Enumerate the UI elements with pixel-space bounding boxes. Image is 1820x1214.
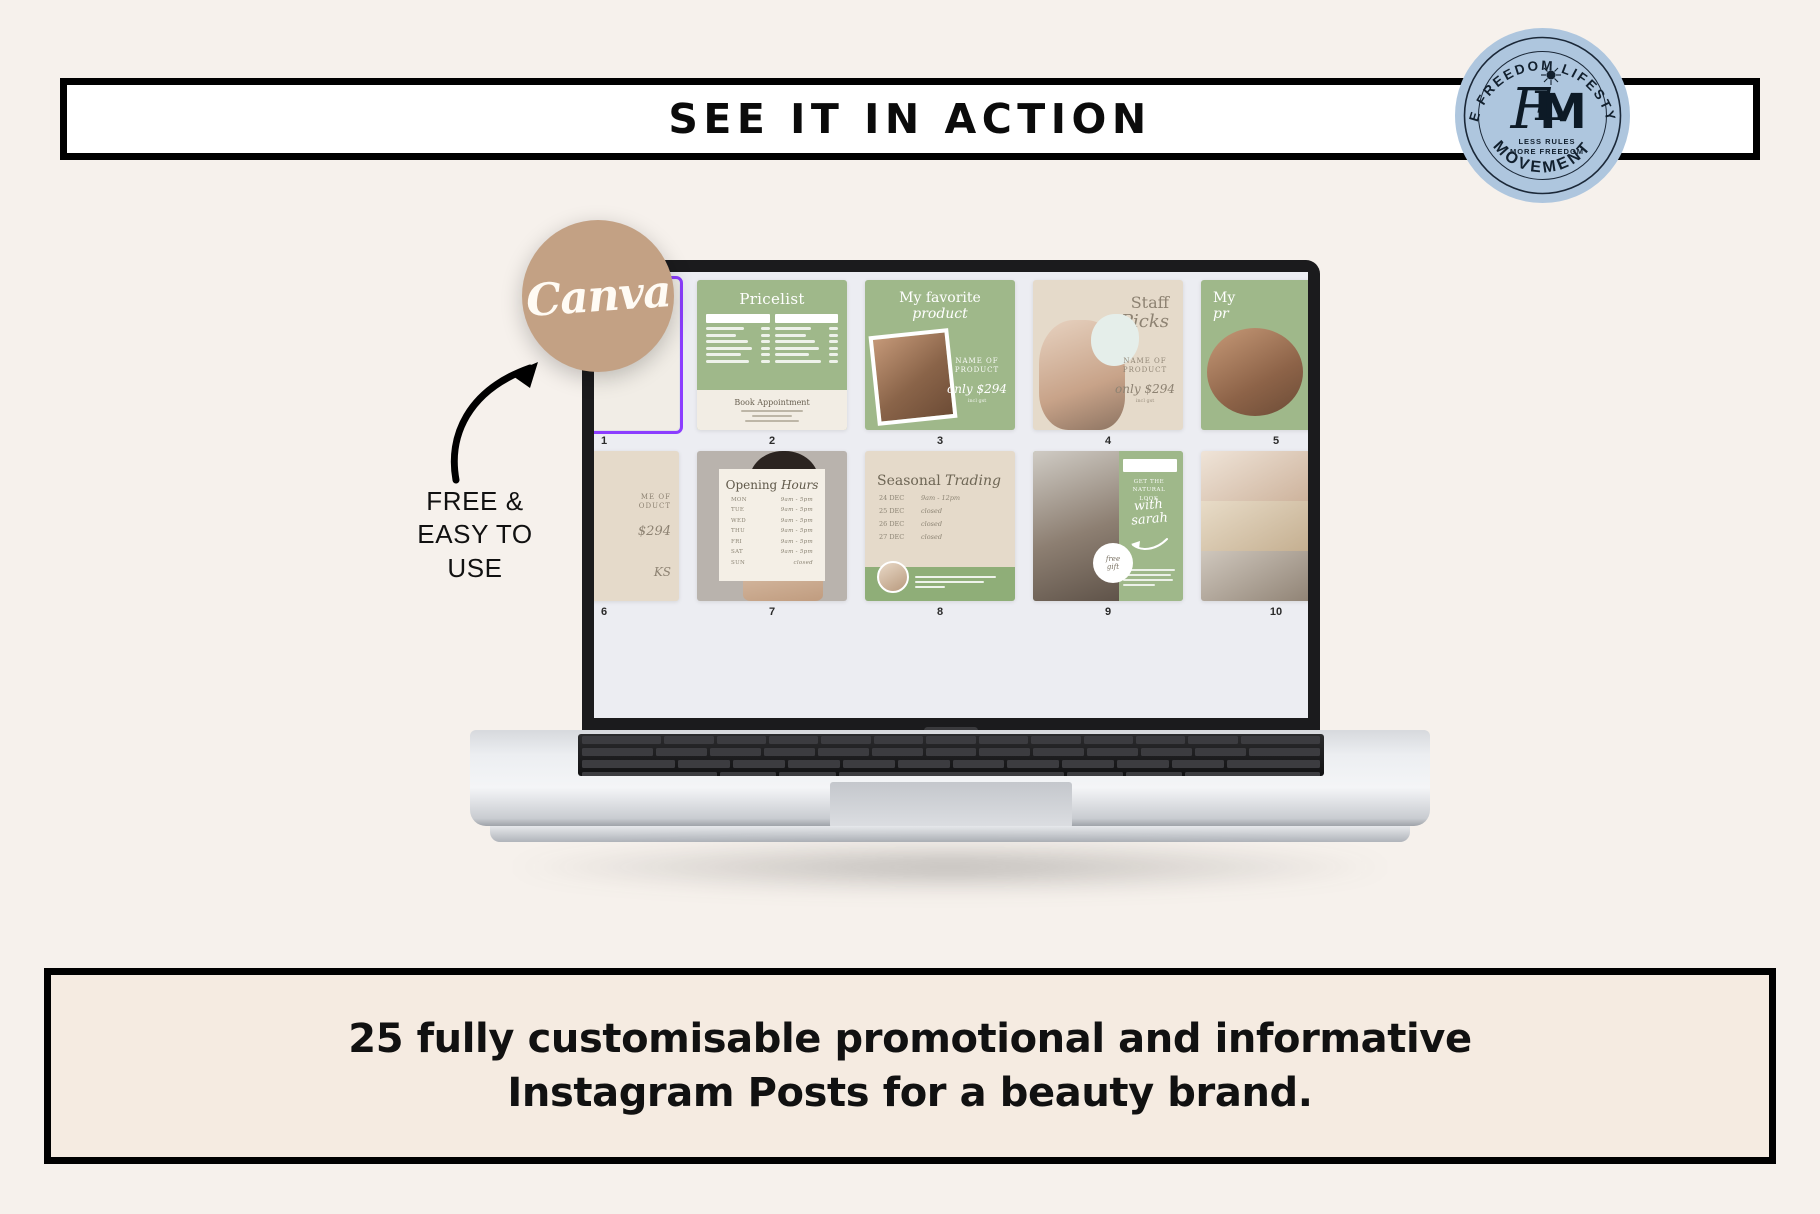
laptop-shadow — [500, 842, 1400, 892]
price-value: $294 — [1144, 382, 1175, 396]
product-label-1: ME OF — [641, 493, 671, 501]
canva-badge: Canva — [522, 220, 674, 372]
canva-card-photo-stack[interactable] — [1201, 451, 1308, 601]
laptop-lid: 1 Pricelist — [582, 260, 1320, 740]
page-number: 7 — [697, 606, 847, 618]
footer-title: Book Appointment — [734, 398, 809, 407]
canva-card-opening-hours[interactable]: Opening Hours MON9am - 5pm TUE9am - 5pm … — [697, 451, 847, 601]
curved-arrow-up-right-icon — [438, 348, 568, 488]
canva-card-seasonal-trading[interactable]: Seasonal Trading 24 DEC9am - 12pm 25 DEC… — [865, 451, 1015, 601]
curved-arrow-left-icon — [1129, 535, 1169, 553]
banner-line-2: Instagram Posts for a beauty brand. — [507, 1070, 1312, 1116]
card-title: My pr — [1201, 280, 1308, 322]
poster-canvas: SEE IT IN ACTION THE FREEDOM LIFESTYLE M… — [0, 0, 1820, 1214]
card-title: Seasonal Trading — [865, 451, 1015, 489]
canva-card-pricelist[interactable]: Pricelist — [697, 280, 847, 430]
page-number: 5 — [1201, 435, 1308, 447]
grid-cell: Opening Hours MON9am - 5pm TUE9am - 5pm … — [688, 451, 856, 618]
brand-logo-badge: THE FREEDOM LIFESTYLE MOVEMENT F M L LES… — [1455, 28, 1630, 203]
banner-line-1: 25 fully customisable promotional and in… — [348, 1016, 1471, 1062]
date-row: 27 DECclosed — [865, 533, 1015, 541]
hours-row: SUNclosed — [719, 560, 825, 566]
title-line-2: Hours — [781, 478, 818, 492]
svg-text:L: L — [1533, 83, 1561, 130]
page-number: 6 — [594, 606, 679, 618]
product-photo — [1207, 328, 1303, 416]
callout-line-1: FREE & — [380, 485, 570, 518]
canva-card-partial-left-2[interactable]: ME OF ODUCT $294 KS — [594, 451, 679, 601]
grid-cell: ME OF ODUCT $294 KS 6 — [594, 451, 688, 618]
price-note: incl gst — [1115, 398, 1175, 404]
canva-page-grid: 1 Pricelist — [594, 280, 1308, 622]
hours-row: TUE9am - 5pm — [719, 507, 825, 513]
title-line-2: product — [875, 307, 1005, 323]
page-number: 10 — [1201, 606, 1308, 618]
grid-cell: Pricelist — [688, 280, 856, 447]
page-number: 3 — [865, 435, 1015, 447]
extra-text: KS — [638, 565, 671, 579]
book-now-button[interactable] — [1123, 459, 1177, 472]
title-line-2: Trading — [945, 473, 1001, 489]
opening-hours-panel: Opening Hours MON9am - 5pm TUE9am - 5pm … — [719, 469, 825, 581]
page-title: SEE IT IN ACTION — [668, 95, 1151, 143]
page-number: 1 — [594, 435, 679, 447]
stack-photo-1 — [1201, 451, 1308, 501]
laptop-screen: 1 Pricelist — [594, 272, 1308, 718]
grid-cell: 10 — [1192, 451, 1308, 618]
stack-photo-2 — [1201, 501, 1308, 551]
product-label-2: PRODUCT — [1123, 366, 1167, 374]
price-note: incl gst — [947, 398, 1007, 404]
grid-cell: Seasonal Trading 24 DEC9am - 12pm 25 DEC… — [856, 451, 1024, 618]
grid-cell: My favorite product NAME OF PRODUCT — [856, 280, 1024, 447]
laptop-keyboard[interactable] — [578, 734, 1324, 776]
hours-row: THU9am - 5pm — [719, 528, 825, 534]
price-block: NAME OF PRODUCT only $294 incl gst — [1115, 357, 1175, 404]
page-number: 9 — [1033, 606, 1183, 618]
title-line-1: My — [1213, 290, 1235, 306]
photo-stack — [1201, 451, 1308, 601]
date-row: 25 DECclosed — [865, 507, 1015, 515]
title-line-1: Seasonal — [877, 473, 941, 489]
grid-cell: GET THE NATURAL LOOK with sarah — [1024, 451, 1192, 618]
page-number: 4 — [1033, 435, 1183, 447]
pricelist-col-header — [706, 314, 770, 323]
card-title: Pricelist — [697, 280, 847, 308]
product-label-2: ODUCT — [639, 502, 671, 510]
footer-text-lines — [915, 576, 1003, 591]
canva-card-staff-picks[interactable]: Staff Picks NAME OF PRODUCT — [1033, 280, 1183, 430]
price-prefix: only — [947, 382, 973, 396]
card-title: My favorite product — [865, 280, 1015, 322]
product-photo — [869, 328, 958, 426]
svg-text:MORE FREEDOM: MORE FREEDOM — [1510, 147, 1584, 156]
pricelist-col-header — [775, 314, 839, 323]
promo-body-lines — [1123, 569, 1175, 589]
product-label-2: PRODUCT — [955, 366, 999, 374]
title-line-1: Staff — [1131, 293, 1169, 312]
hours-row: FRI9am - 5pm — [719, 539, 825, 545]
canva-card-partial-right[interactable]: My pr — [1201, 280, 1308, 430]
page-number: 2 — [697, 435, 847, 447]
product-label-1: NAME OF — [955, 357, 998, 365]
price-value: $294 — [638, 524, 671, 539]
product-label-1: NAME OF — [1123, 357, 1166, 365]
grid-cell: My pr 5 — [1192, 280, 1308, 447]
callout-line-2: EASY TO — [380, 518, 570, 551]
hours-row: MON9am - 5pm — [719, 497, 825, 503]
date-row: 26 DECclosed — [865, 520, 1015, 528]
laptop-trackpad[interactable] — [830, 782, 1072, 828]
date-row: 24 DEC9am - 12pm — [865, 494, 1015, 502]
hours-row: WED9am - 5pm — [719, 518, 825, 524]
logo-svg: THE FREEDOM LIFESTYLE MOVEMENT F M L LES… — [1455, 28, 1630, 203]
price-prefix: only — [1115, 382, 1141, 396]
callout-line-3: USE — [380, 552, 570, 585]
title-line-1: Opening — [726, 478, 778, 492]
svg-text:LESS RULES: LESS RULES — [1518, 137, 1575, 146]
page-number: 8 — [865, 606, 1015, 618]
laptop-front-edge — [490, 826, 1410, 842]
card-title: Opening Hours — [719, 469, 825, 492]
canva-card-with-sarah[interactable]: GET THE NATURAL LOOK with sarah — [1033, 451, 1183, 601]
promo-script: with sarah — [1120, 497, 1178, 529]
title-line-1: My favorite — [899, 290, 981, 306]
grid-cell: Staff Picks NAME OF PRODUCT — [1024, 280, 1192, 447]
canva-label: Canva — [524, 266, 672, 327]
price-block: NAME OF PRODUCT only $294 incl gst — [947, 357, 1007, 404]
pricelist-footer: Book Appointment — [697, 390, 847, 430]
stack-photo-3 — [1201, 551, 1308, 601]
callout-text: FREE & EASY TO USE — [380, 485, 570, 585]
bottom-banner: 25 fully customisable promotional and in… — [44, 968, 1776, 1164]
price-value: $294 — [976, 382, 1007, 396]
avatar — [877, 561, 909, 593]
canva-card-favorite-product[interactable]: My favorite product NAME OF PRODUCT — [865, 280, 1015, 430]
title-line-2: pr — [1213, 307, 1308, 323]
hours-row: SAT9am - 5pm — [719, 549, 825, 555]
